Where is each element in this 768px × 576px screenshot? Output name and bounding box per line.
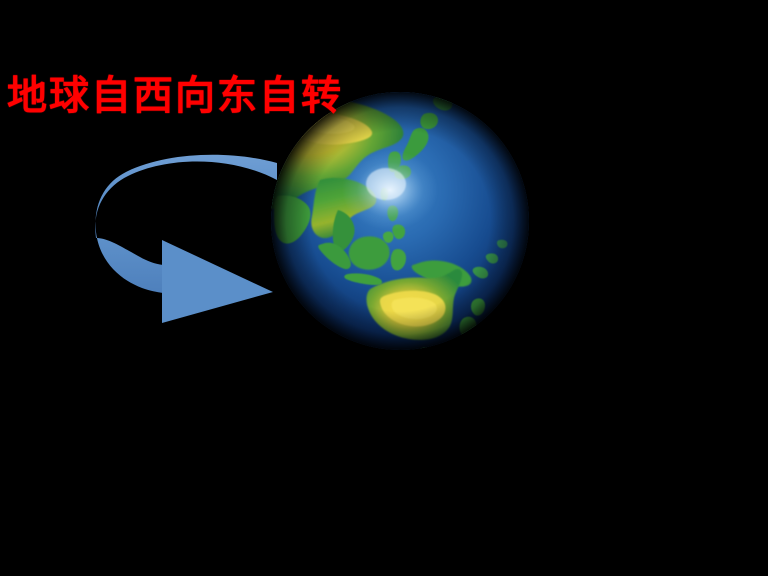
presentation-slide: 地球自西向东自转 bbox=[0, 0, 768, 576]
arrow-ribbon-upper bbox=[95, 155, 277, 238]
earth-globe bbox=[268, 92, 532, 350]
arrow-ribbon-lower bbox=[96, 232, 163, 293]
page-title: 地球自西向东自转 bbox=[7, 73, 343, 119]
globe-limb-shading bbox=[271, 92, 529, 350]
earth-globe-graphic bbox=[268, 92, 532, 350]
arrow-head bbox=[162, 240, 273, 323]
